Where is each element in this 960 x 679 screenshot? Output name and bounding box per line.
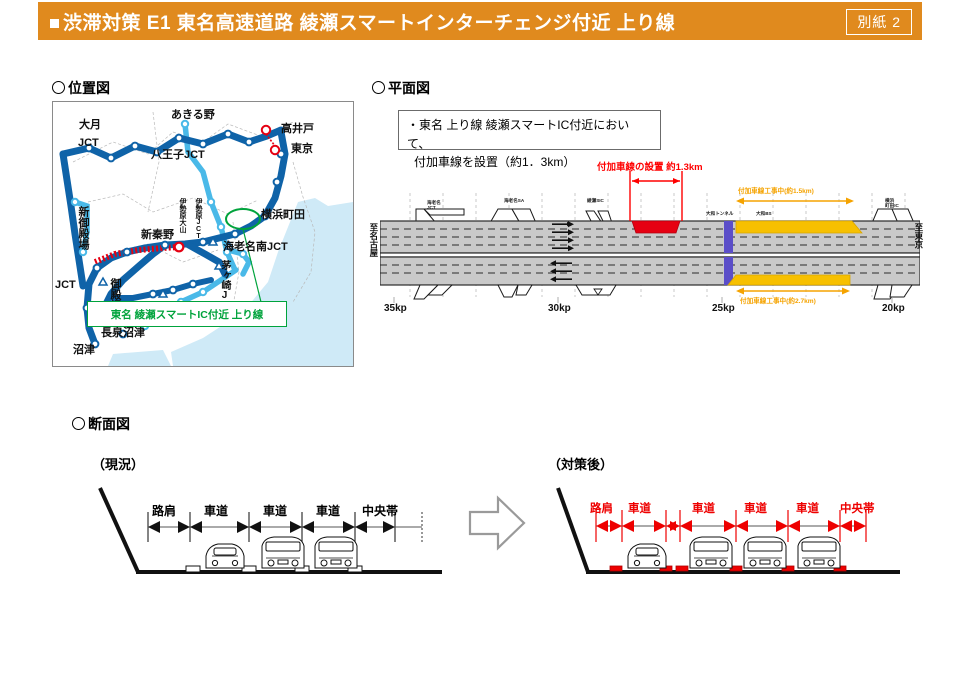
cross-section-after-svg — [548, 480, 908, 595]
bullet-square-icon — [50, 19, 59, 28]
xs-before-label-4: 中央帯 — [362, 502, 398, 519]
transition-arrow-icon — [466, 492, 528, 554]
map-label-jct: JCT — [55, 280, 76, 292]
plan-schematic-svg — [380, 165, 920, 320]
page-header: 渋滞対策 E1 東名高速道路 綾瀬スマートインターチェンジ付近 上り線 別紙 2 — [38, 2, 922, 40]
profile-after-title: （対策後） — [548, 454, 613, 473]
map-label-hachioji-jct: 八王子JCT — [151, 150, 205, 162]
xs-after-label-2: 車道 — [692, 500, 715, 516]
map-label-numazu: 沼津 — [73, 345, 95, 357]
plan-kp-35: 35kp — [384, 303, 407, 314]
plan-kp-30: 30kp — [548, 303, 571, 314]
section-title-location: 位置図 — [52, 78, 110, 98]
plan-side-label-tokyo: 至東京 — [914, 223, 923, 249]
map-label-isehara-jct: 伊勢原JCT — [195, 198, 202, 240]
plan-note-box: ・東名 上り線 綾瀬スマートIC付近において、 付加車線を設置（約1．3km） — [398, 110, 661, 150]
xs-before-label-1: 車道 — [204, 502, 228, 519]
cross-section-before[interactable]: 路肩 車道 車道 車道 中央帯 — [90, 480, 450, 595]
section-title-profile-text: 断面図 — [88, 416, 130, 432]
bullet-circle-icon-profile — [72, 417, 85, 430]
map-label-otsuki-jct: JCT — [78, 138, 99, 150]
map-label-otsuki: 大月 — [79, 120, 101, 132]
section-title-plan: 平面図 — [372, 78, 430, 98]
plan-label-yokohama-machida-ic: 横浜町田IC — [885, 198, 899, 209]
bullet-circle-icon — [52, 81, 65, 94]
map-label-akiruno: あきる野 — [171, 110, 215, 122]
attachment-badge: 別紙 2 — [846, 9, 912, 35]
map-callout-box: 東名 綾瀬スマートIC付近 上り線 — [87, 301, 287, 327]
page-title: 渋滞対策 E1 東名高速道路 綾瀬スマートインターチェンジ付近 上り線 — [50, 8, 675, 35]
plan-red-annotation: 付加車線の設置 約1.3km — [597, 159, 703, 173]
plan-label-ebina-jct: 海老名JCT — [427, 200, 441, 211]
section-title-profile: 断面図 — [72, 414, 130, 434]
section-title-location-text: 位置図 — [68, 80, 110, 96]
plan-label-yamato-bs: 大和BS — [756, 211, 772, 217]
plan-kp-20: 20kp — [882, 303, 905, 314]
map-label-tokyo: 東京 — [291, 144, 313, 156]
location-map[interactable]: あきる野 高井戸 東京 八王子JCT 大月 JCT 横浜町田 海老名南JCT 新… — [52, 101, 354, 367]
plan-schematic[interactable]: 海老名JCT 海老名SA 綾瀬SIC 横浜町田IC 大和トンネル 大和BS 付加… — [380, 165, 920, 320]
map-label-takaido: 高井戸 — [281, 124, 314, 136]
xs-after-label-3: 車道 — [744, 500, 767, 516]
plan-yellow-annotation-top: 付加車線工事中(約1.5km) — [738, 185, 814, 195]
plan-kp-25: 25kp — [712, 303, 735, 314]
xs-before-label-2: 車道 — [263, 502, 287, 519]
profile-before-title: （現況） — [92, 454, 144, 473]
map-label-shinhadano: 新秦野 — [141, 230, 174, 242]
map-label-shin-gotemba: 新御殿場 — [77, 206, 88, 250]
xs-after-label-0: 路肩 — [590, 500, 613, 516]
plan-side-label-nagoya: 至名古屋 — [369, 223, 378, 257]
page-title-text: 渋滞対策 E1 東名高速道路 綾瀬スマートインターチェンジ付近 上り線 — [63, 13, 675, 34]
map-label-yokohama-machida: 横浜町田 — [261, 210, 305, 222]
cross-section-after[interactable]: 路肩 車道 車道 車道 車道 中央帯 — [548, 480, 908, 595]
plan-yellow-annotation-bottom: 付加車線工事中(約2.7km) — [740, 295, 816, 305]
xs-after-label-5: 中央帯 — [840, 500, 875, 516]
bullet-circle-icon-plan — [372, 81, 385, 94]
cross-section-before-svg — [90, 480, 450, 595]
section-title-plan-text: 平面図 — [388, 80, 430, 96]
xs-after-label-4: 車道 — [796, 500, 819, 516]
plan-note-line1: ・東名 上り線 綾瀬スマートIC付近において、 — [407, 116, 652, 153]
xs-before-label-3: 車道 — [316, 502, 340, 519]
map-label-nagaizumi-numazu: 長泉沼津 — [101, 328, 145, 340]
map-label-isehara-oyama: 伊勢原大山 — [179, 198, 186, 233]
plan-label-ebina-sa: 海老名SA — [504, 198, 524, 203]
map-label-ebinaminami-jct: 海老名南JCT — [223, 242, 288, 254]
plan-label-yamato-tunnel: 大和トンネル — [706, 211, 733, 217]
xs-after-label-1: 車道 — [628, 500, 651, 516]
plan-label-ayase-sic: 綾瀬SIC — [587, 198, 604, 203]
xs-before-label-0: 路肩 — [152, 502, 176, 519]
